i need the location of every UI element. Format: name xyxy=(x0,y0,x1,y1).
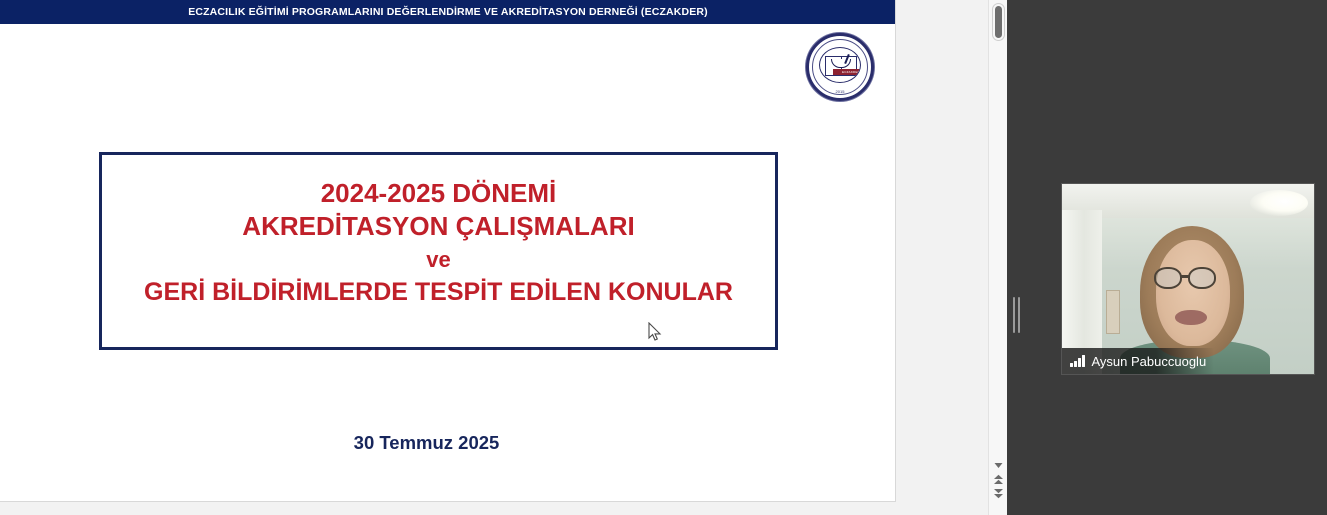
video-person-mouth xyxy=(1175,310,1207,325)
video-wall-frame xyxy=(1106,290,1120,334)
video-person-glasses-bridge xyxy=(1181,275,1190,278)
eczakder-logo-icon: ECZAKDER 2015 xyxy=(806,33,874,101)
video-person-glasses-right xyxy=(1188,267,1216,289)
vertical-scrollbar[interactable] xyxy=(988,0,1007,515)
title-line-4: GERİ BİLDİRİMLERDE TESPİT EDİLEN KONULAR xyxy=(144,276,733,309)
double-arrow-up-icon xyxy=(993,474,1004,485)
shared-screen-viewer: ECZACILIK EĞİTİMİ PROGRAMLARINI DEĞERLEN… xyxy=(0,0,1007,515)
next-page-button[interactable] xyxy=(989,486,1008,501)
title-line-1: 2024-2025 DÖNEMİ xyxy=(321,177,557,210)
seal-band-label: ECZAKDER xyxy=(833,69,861,75)
participant-video-tile[interactable]: Aysun Pabuccuoglu xyxy=(1061,183,1315,375)
handle-bar-1 xyxy=(1013,297,1015,333)
title-line-2: AKREDİTASYON ÇALIŞMALARI xyxy=(242,210,634,243)
screen-root: ECZACILIK EĞİTİMİ PROGRAMLARINI DEĞERLEN… xyxy=(0,0,1327,515)
participant-video-panel: Aysun Pabuccuoglu xyxy=(1007,0,1327,515)
panel-resize-handle[interactable] xyxy=(1010,295,1022,335)
slide-date: 30 Temmuz 2025 xyxy=(0,432,874,454)
seal-year-label: 2015 xyxy=(809,89,871,94)
video-person-face xyxy=(1156,240,1230,346)
participant-name-label: Aysun Pabuccuoglu xyxy=(1092,354,1207,369)
handle-bar-2 xyxy=(1018,297,1020,333)
video-person-glasses-left xyxy=(1154,267,1182,289)
vertical-scroll-thumb[interactable] xyxy=(993,4,1004,40)
seal-inner-emblem: ECZAKDER xyxy=(819,47,861,83)
organization-name: ECZACILIK EĞİTİMİ PROGRAMLARINI DEĞERLEN… xyxy=(188,6,708,18)
presentation-slide: ECZACILIK EĞİTİMİ PROGRAMLARINI DEĞERLEN… xyxy=(0,0,896,502)
slide-header-band: ECZACILIK EĞİTİMİ PROGRAMLARINI DEĞERLEN… xyxy=(0,0,896,24)
title-line-3: ve xyxy=(426,243,450,276)
slide-scroll-area[interactable]: ECZACILIK EĞİTİMİ PROGRAMLARINI DEĞERLEN… xyxy=(0,0,988,515)
participant-name-bar: Aysun Pabuccuoglu xyxy=(1062,348,1214,374)
double-arrow-down-icon xyxy=(993,488,1004,499)
scroll-down-button[interactable] xyxy=(989,458,1008,473)
previous-page-button[interactable] xyxy=(989,472,1008,487)
signal-strength-icon xyxy=(1070,355,1085,367)
slide-title-box: 2024-2025 DÖNEMİ AKREDİTASYON ÇALIŞMALAR… xyxy=(99,152,778,350)
chevron-down-icon xyxy=(994,462,1003,469)
video-ceiling-light xyxy=(1250,190,1308,216)
